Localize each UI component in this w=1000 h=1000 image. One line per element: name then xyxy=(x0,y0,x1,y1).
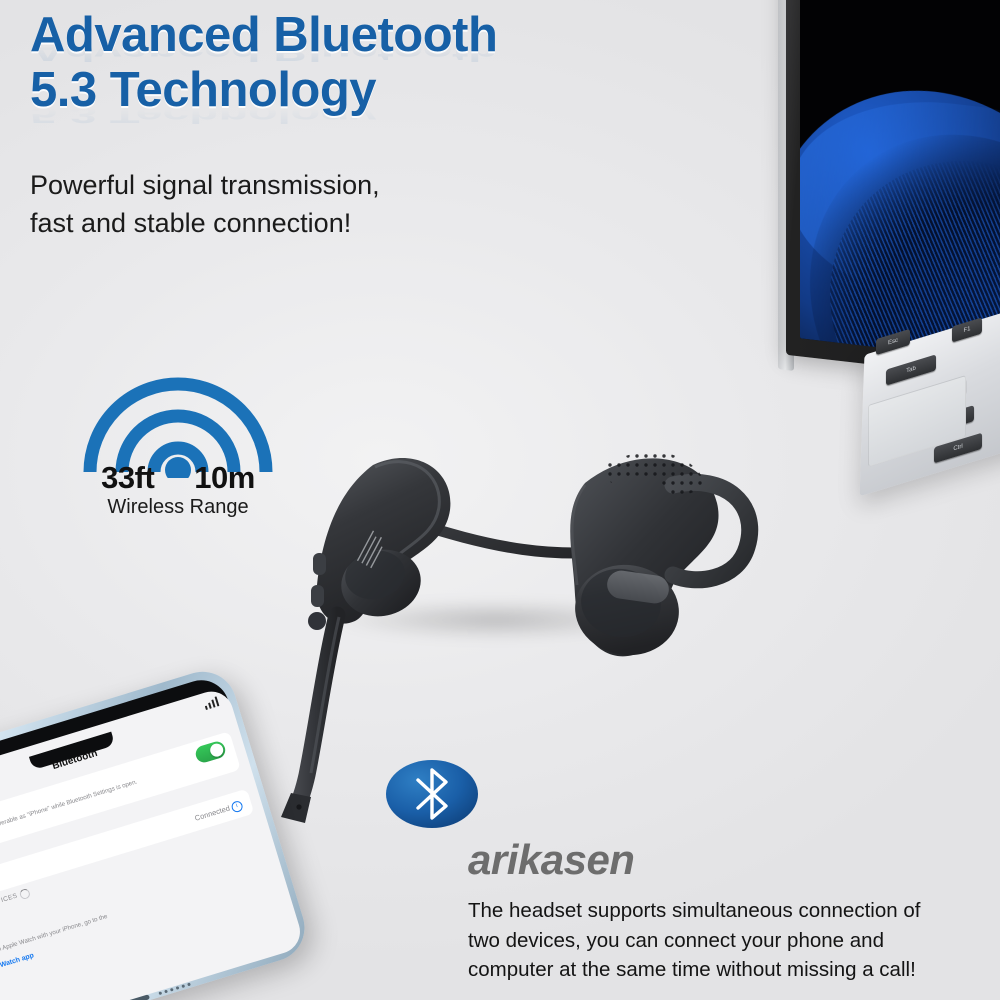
open-ear-bluetooth-headset xyxy=(255,425,775,825)
phone-body: 9:38 Settings Bluetooth Bluetooth xyxy=(0,663,313,1000)
apple-watch-app-link[interactable]: Apple Watch app xyxy=(0,952,35,975)
brand-name: arikasen xyxy=(468,836,634,884)
left-earhook xyxy=(308,458,450,630)
range-label: Wireless Range xyxy=(78,496,278,519)
phone-bezel: 9:38 Settings Bluetooth Bluetooth xyxy=(0,673,303,1000)
bluetooth-icon xyxy=(384,752,480,836)
bluetooth-badge xyxy=(384,752,480,836)
caption-line-1: The headset supports simultaneous connec… xyxy=(468,896,1000,926)
control-buttons xyxy=(313,553,326,575)
headline-line-2: 5.3 Technology xyxy=(30,63,710,118)
laptop-computer: Esc F1 F2 Tab CapsLock Shift Ctrl xyxy=(756,0,1000,490)
subheading-line-1: Powerful signal transmission, xyxy=(30,166,550,204)
range-meters: 10m xyxy=(194,460,255,495)
feature-caption: The headset supports simultaneous connec… xyxy=(468,896,1000,985)
laptop-screen xyxy=(800,0,1000,367)
headline-line-1: Advanced Bluetooth xyxy=(30,8,710,63)
range-feet: 33ft xyxy=(101,460,154,495)
range-values: 33ft10m xyxy=(78,460,278,496)
other-devices-header: OTHER DEVICES xyxy=(0,892,18,916)
spinner-icon xyxy=(19,888,31,900)
caption-line-3: computer at the same time without missin… xyxy=(468,955,1000,985)
right-earhook xyxy=(569,452,749,662)
laptop-wallpaper xyxy=(800,0,1000,367)
product-marketing-image: Advanced Bluetooth 5.3 Technology Advanc… xyxy=(0,0,1000,1000)
caption-line-2: two devices, you can connect your phone … xyxy=(468,926,1000,956)
signal-icon xyxy=(203,696,219,710)
subheading: Powerful signal transmission, fast and s… xyxy=(30,166,550,243)
page-title: Advanced Bluetooth 5.3 Technology xyxy=(30,8,710,119)
wireless-range-badge: 33ft10m Wireless Range xyxy=(78,368,278,536)
tab-key[interactable]: Tab xyxy=(886,354,936,385)
esc-key[interactable]: Esc xyxy=(876,329,910,355)
phone-screen: 9:38 Settings Bluetooth Bluetooth xyxy=(0,686,305,1000)
subheading-line-2: fast and stable connection! xyxy=(30,204,550,242)
